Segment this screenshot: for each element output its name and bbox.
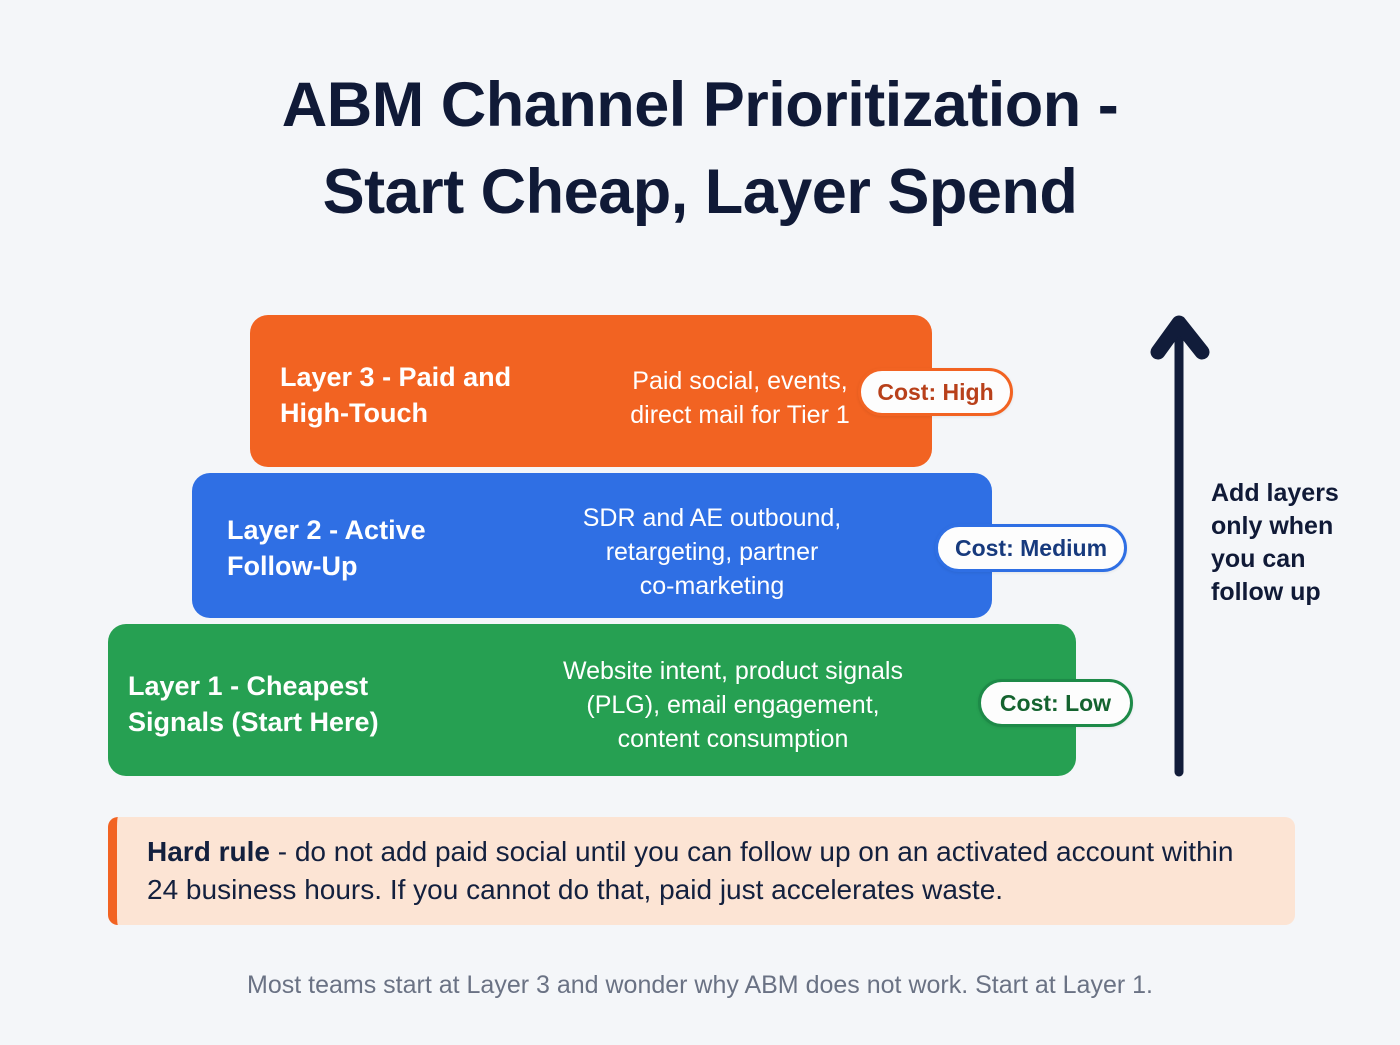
layer-1-title: Layer 1 - Cheapest Signals (Start Here)	[128, 668, 379, 740]
footer-note: Most teams start at Layer 3 and wonder w…	[0, 971, 1400, 1000]
title-line-1: ABM Channel Prioritization -	[282, 70, 1119, 140]
layer-3-description: Paid social, events, direct mail for Tie…	[580, 365, 900, 433]
cost-badge-medium: Cost: Medium	[935, 524, 1127, 572]
page-title: ABM Channel Prioritization - Start Cheap…	[0, 62, 1400, 236]
cost-badge-high-label: Cost: High	[877, 379, 993, 406]
hard-rule-text: Hard rule - do not add paid social until…	[117, 833, 1295, 908]
cost-badge-medium-label: Cost: Medium	[955, 535, 1107, 562]
hard-rule-body: - do not add paid social until you can f…	[147, 836, 1233, 905]
layer-bar-3: Layer 3 - Paid and High-Touch Paid socia…	[250, 315, 932, 467]
layer-2-description: SDR and AE outbound, retargeting, partne…	[527, 502, 897, 603]
hard-rule-emphasis: Hard rule	[147, 836, 270, 867]
hard-rule-callout: Hard rule - do not add paid social until…	[108, 817, 1295, 925]
cost-badge-high: Cost: High	[858, 368, 1013, 416]
layer-bar-1: Layer 1 - Cheapest Signals (Start Here) …	[108, 624, 1076, 776]
arrow-up-icon	[1150, 312, 1220, 780]
cost-badge-low: Cost: Low	[978, 679, 1133, 727]
infographic-canvas: ABM Channel Prioritization - Start Cheap…	[0, 0, 1400, 1045]
layer-3-title: Layer 3 - Paid and High-Touch	[280, 359, 511, 431]
layer-bar-2: Layer 2 - Active Follow-Up SDR and AE ou…	[192, 473, 992, 618]
title-line-2: Start Cheap, Layer Spend	[0, 149, 1400, 236]
layer-1-description: Website intent, product signals (PLG), e…	[503, 655, 963, 756]
cost-badge-low-label: Cost: Low	[1000, 690, 1111, 717]
layer-2-title: Layer 2 - Active Follow-Up	[227, 512, 426, 584]
arrow-caption: Add layers only when you can follow up	[1211, 477, 1386, 609]
